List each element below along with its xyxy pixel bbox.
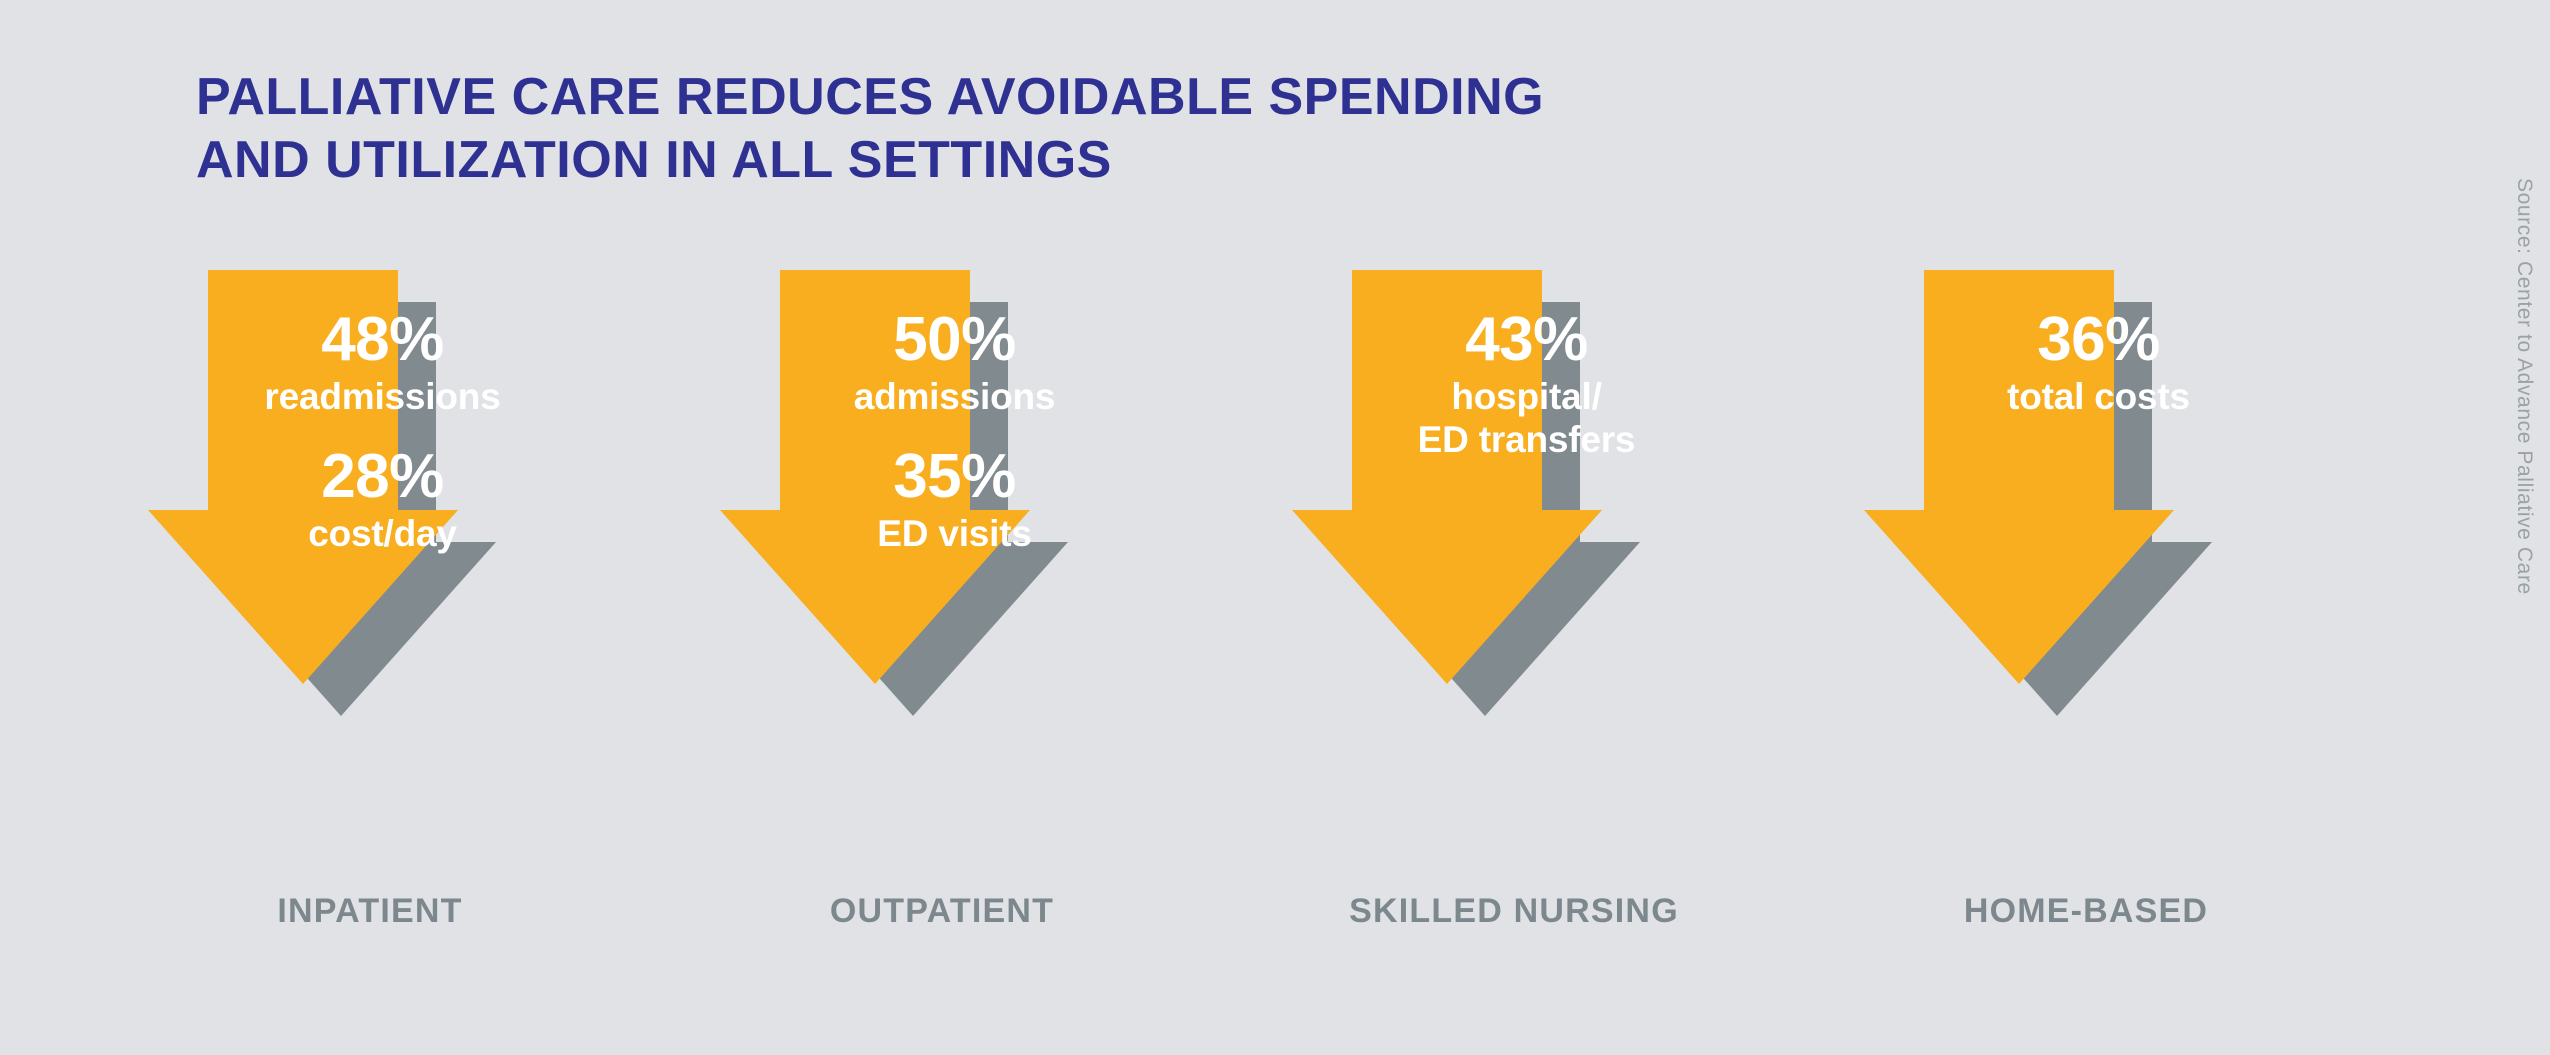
title-line-1: PALLIATIVE CARE REDUCES AVOIDABLE SPENDI… bbox=[196, 66, 1896, 129]
arrow-column-home-based: 36% total costs HOME-BASED bbox=[1836, 270, 2356, 970]
stat-label: total costs bbox=[1971, 376, 2226, 418]
arrow-stats-home-based: 36% total costs bbox=[1971, 270, 2226, 690]
stat-label: cost/day bbox=[255, 513, 510, 555]
arrow-chart-row: 48% readmissions 28% cost/day INPATIENT bbox=[0, 270, 2550, 970]
stat-group: 43% hospital/ ED transfers bbox=[1399, 308, 1654, 461]
stat-value: 36% bbox=[1971, 308, 2226, 372]
stat-value: 50% bbox=[827, 308, 1082, 372]
arrow-column-inpatient: 48% readmissions 28% cost/day INPATIENT bbox=[120, 270, 640, 970]
stat-value: 43% bbox=[1399, 308, 1654, 372]
stat-group: 48% readmissions bbox=[255, 308, 510, 419]
down-arrow-shape: 50% admissions 35% ED visits bbox=[692, 270, 1212, 880]
stat-label: hospital/ ED transfers bbox=[1399, 376, 1654, 460]
stat-label: admissions bbox=[827, 376, 1082, 418]
arrow-stats-skilled-nursing: 43% hospital/ ED transfers bbox=[1399, 270, 1654, 690]
stat-label: readmissions bbox=[255, 376, 510, 418]
down-arrow-shape: 36% total costs bbox=[1836, 270, 2356, 880]
source-credit: Source: Center to Advance Palliative Car… bbox=[2512, 178, 2536, 595]
title-line-2: AND UTILIZATION IN ALL SETTINGS bbox=[196, 129, 1896, 192]
arrow-column-skilled-nursing: 43% hospital/ ED transfers SKILLED NURSI… bbox=[1264, 270, 1784, 970]
category-label-inpatient: INPATIENT bbox=[120, 892, 620, 931]
category-label-outpatient: OUTPATIENT bbox=[692, 892, 1192, 931]
down-arrow-shape: 43% hospital/ ED transfers bbox=[1264, 270, 1784, 880]
stat-group: 35% ED visits bbox=[827, 445, 1082, 556]
category-label-skilled-nursing: SKILLED NURSING bbox=[1264, 892, 1764, 931]
stat-value: 35% bbox=[827, 445, 1082, 509]
stat-group: 50% admissions bbox=[827, 308, 1082, 419]
down-arrow-shape: 48% readmissions 28% cost/day bbox=[120, 270, 640, 880]
infographic-canvas: PALLIATIVE CARE REDUCES AVOIDABLE SPENDI… bbox=[0, 0, 2550, 1055]
stat-group: 36% total costs bbox=[1971, 308, 2226, 419]
stat-label: ED visits bbox=[827, 513, 1082, 555]
category-label-home-based: HOME-BASED bbox=[1836, 892, 2336, 931]
arrow-stats-outpatient: 50% admissions 35% ED visits bbox=[827, 270, 1082, 690]
arrow-stats-inpatient: 48% readmissions 28% cost/day bbox=[255, 270, 510, 690]
stat-value: 28% bbox=[255, 445, 510, 509]
page-title: PALLIATIVE CARE REDUCES AVOIDABLE SPENDI… bbox=[196, 66, 1896, 193]
stat-value: 48% bbox=[255, 308, 510, 372]
stat-group: 28% cost/day bbox=[255, 445, 510, 556]
arrow-column-outpatient: 50% admissions 35% ED visits OUTPATIENT bbox=[692, 270, 1212, 970]
